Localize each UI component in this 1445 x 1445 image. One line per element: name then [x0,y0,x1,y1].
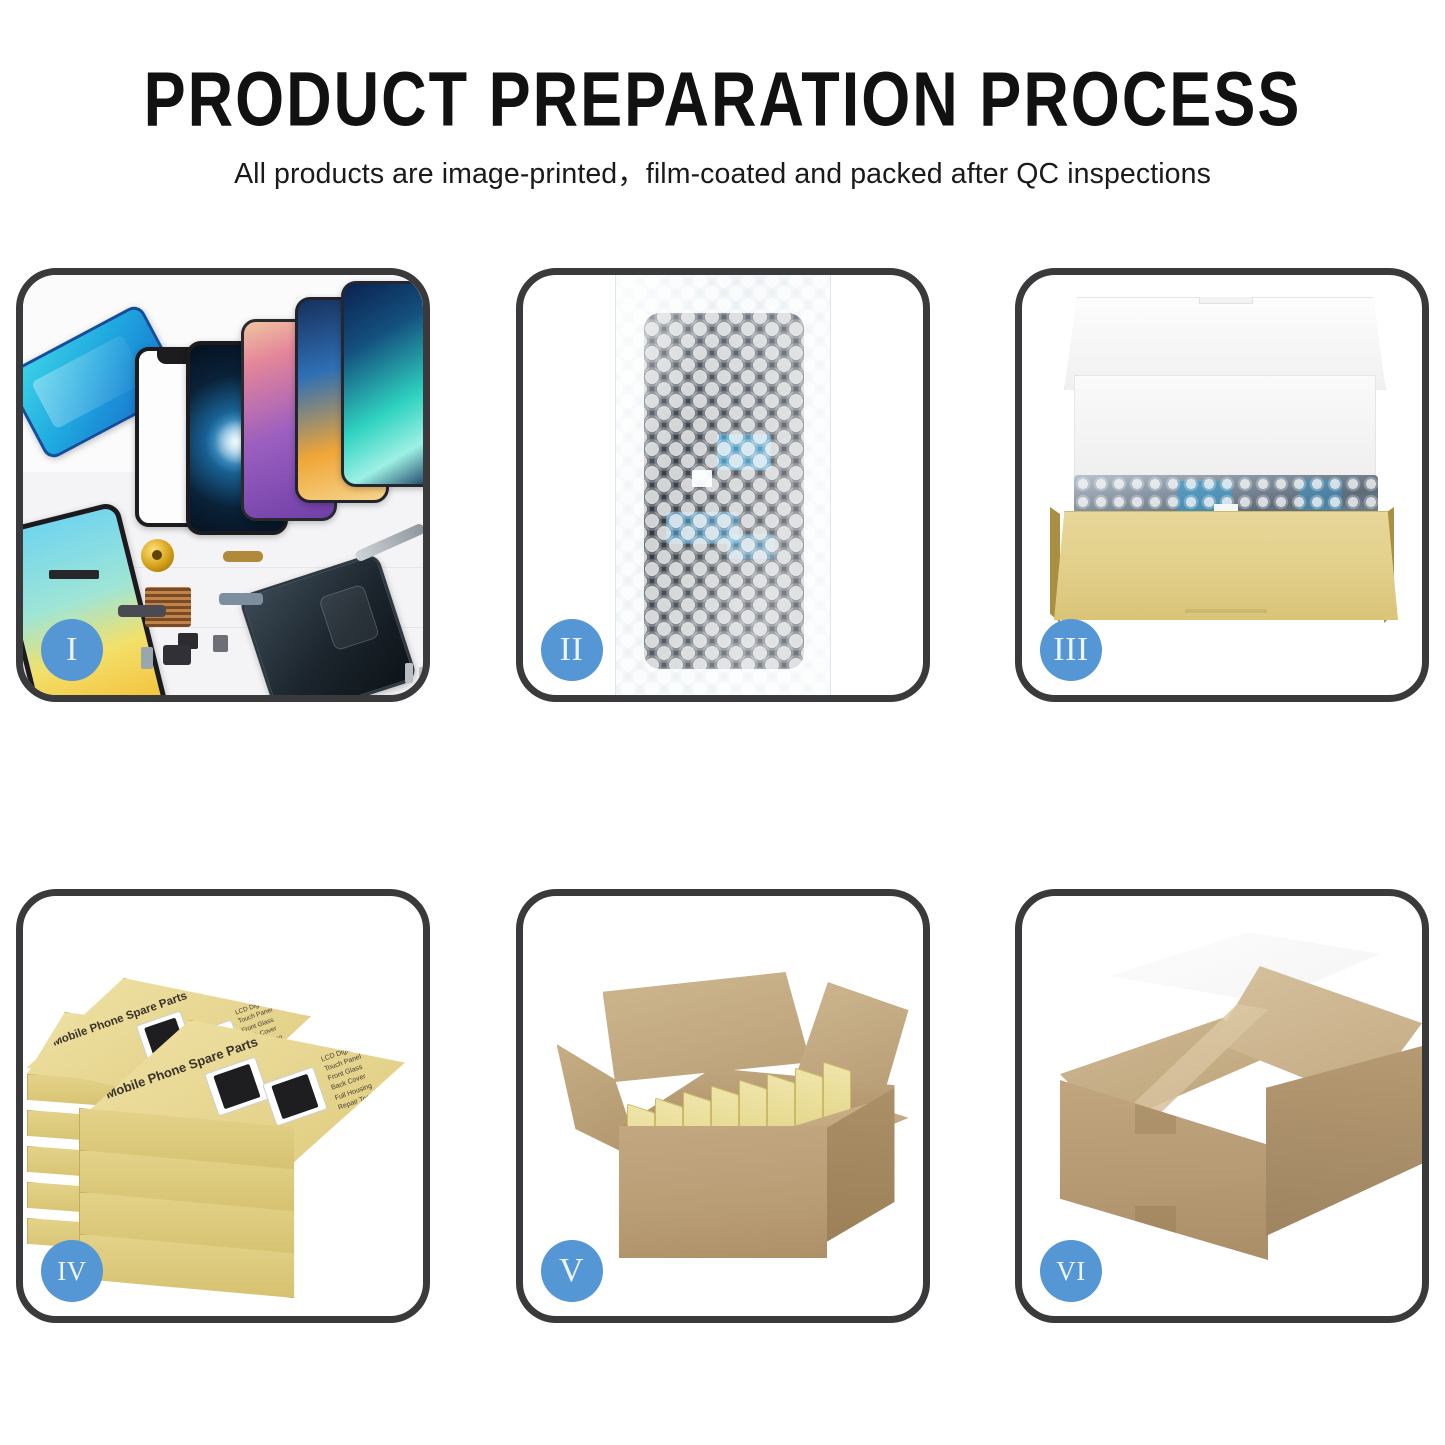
component-flex-cable-3 [118,605,166,617]
component-sim-tray [141,647,153,669]
component-camera-lens [141,539,174,572]
carton-flap-back [603,972,811,1082]
component-flex-cable-1 [223,551,263,562]
process-row-1: I II [0,268,1445,702]
step-badge-4: IV [41,1240,103,1302]
carton-tab-lower [1135,1206,1177,1242]
component-speaker-bar [49,570,99,579]
page-title: PRODUCT PREPARATION PROCESS [0,62,1445,139]
phone-screen-green [341,281,423,487]
step-badge-1: I [41,619,103,681]
component-flex-cable-2 [219,593,263,605]
component-module-3 [163,645,191,665]
bubble-wrap-bag [615,275,831,695]
process-row-2: Mobile Phone Spare Parts LCD Digitizer T… [0,889,1445,1323]
box-phone-image-2 [262,1067,328,1127]
process-grid: I II [0,268,1445,1323]
component-screw-1 [405,663,413,683]
page-header: PRODUCT PREPARATION PROCESS All products… [0,0,1445,192]
step-badge-6: VI [1040,1240,1102,1302]
carton-sealed [1044,930,1414,1282]
box-phone-image-1 [204,1057,270,1117]
step-badge-3: III [1040,619,1102,681]
box-seam-line [1185,609,1268,613]
carton-open [561,958,899,1268]
bag-sheen-overlay [616,275,830,695]
repair-tool-tweezers [354,522,423,562]
process-step-5: V [516,889,930,1323]
carton-front-face [619,1126,827,1258]
process-step-4: Mobile Phone Spare Parts LCD Digitizer T… [16,889,430,1323]
process-step-6: VI [1015,889,1429,1323]
step-badge-5: V [541,1240,603,1302]
phone-back-housing [238,552,418,695]
process-step-1: I [16,268,430,702]
box-checklist-front: LCD Digitizer Touch Panel Front Glass Ba… [320,1042,379,1113]
component-module-2 [213,635,228,652]
component-screw-2 [419,667,423,687]
process-step-2: II [516,268,930,702]
carton-side-face [1266,1046,1422,1236]
step-badge-2: II [541,619,603,681]
box-tray-base [1054,511,1398,620]
process-step-3: III [1015,268,1429,702]
